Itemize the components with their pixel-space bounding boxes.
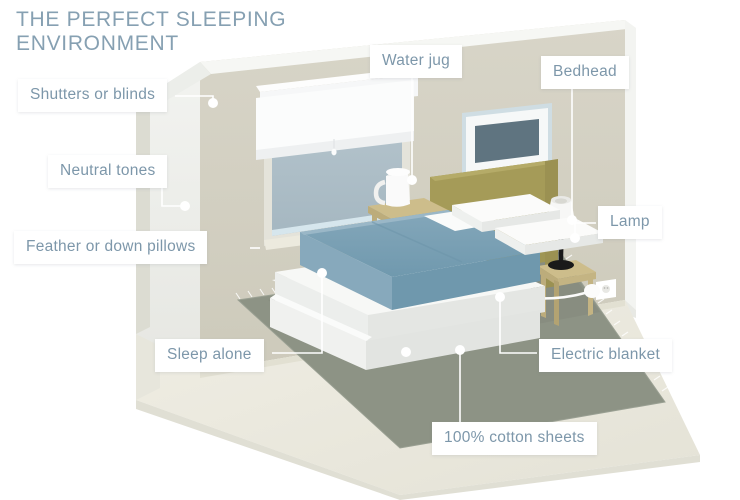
label-sleep-alone[interactable]: Sleep alone [155,339,264,372]
outlet-pin-b [607,287,609,289]
outlet-plug [584,284,600,298]
label-lamp[interactable]: Lamp [598,206,662,239]
nightstand-right-leg-b [554,280,559,326]
left-wall-edge [136,96,150,334]
label-neutral-tones[interactable]: Neutral tones [48,155,167,188]
jug-body [386,173,410,207]
blind-pull-knob [331,149,336,156]
label-shutters-or-blinds[interactable]: Shutters or blinds [18,79,167,112]
label-water-jug[interactable]: Water jug [370,45,462,78]
label-bedhead[interactable]: Bedhead [541,56,629,89]
label-feather-or-down-pillows[interactable]: Feather or down pillows [14,231,207,264]
lamp-bulb-glow [555,198,567,203]
jug-lid [386,168,410,176]
page-title: THE PERFECT SLEEPING ENVIRONMENT [16,8,346,55]
outlet-pin-a [604,287,606,289]
label-electric-blanket[interactable]: Electric blanket [539,339,672,372]
outlet-socket [602,285,610,293]
label-100-percent-cotton-sheets[interactable]: 100% cotton sheets [432,422,597,455]
infographic-canvas: THE PERFECT SLEEPING ENVIRONMENT Shutter… [0,0,740,500]
